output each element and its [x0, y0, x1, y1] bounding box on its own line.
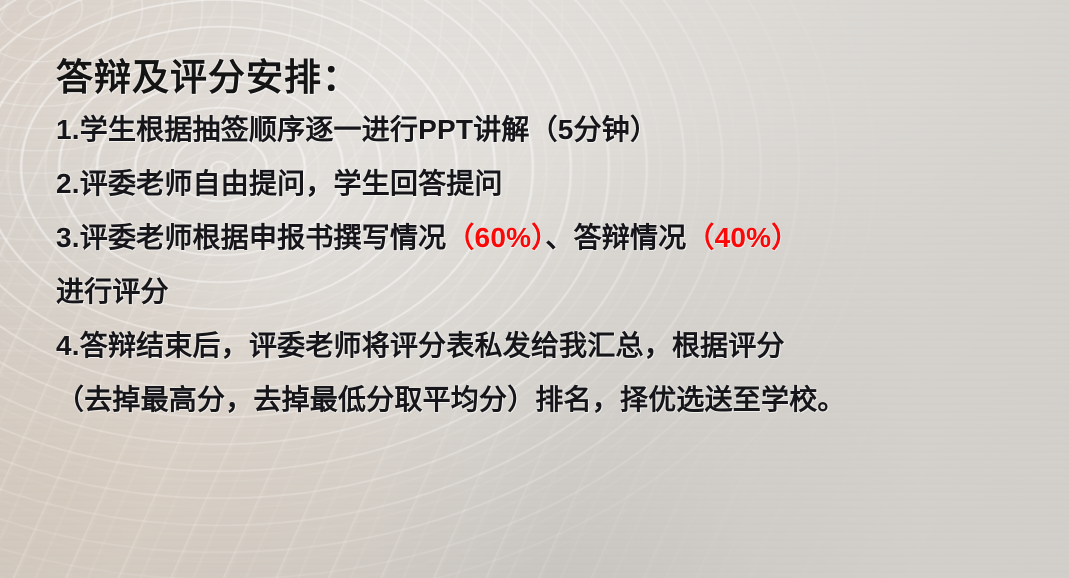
agenda-item-3-continuation: 进行评分	[56, 278, 1056, 306]
agenda-item-3-weight-defense: （40%）	[686, 222, 799, 253]
agenda-item-2: 2.评委老师自由提问，学生回答提问	[56, 170, 1056, 198]
agenda-item-3-prefix: 3.评委老师根据申报书撰写情况	[56, 222, 446, 253]
agenda-item-4: 4.答辩结束后，评委老师将评分表私发给我汇总，根据评分	[56, 332, 1056, 360]
presentation-slide: 答辩及评分安排： 1.学生根据抽签顺序逐一进行PPT讲解（5分钟） 2.评委老师…	[0, 0, 1069, 578]
agenda-item-3-weight-report: （60%）	[446, 222, 545, 253]
agenda-item-1: 1.学生根据抽签顺序逐一进行PPT讲解（5分钟）	[56, 116, 1056, 144]
slide-title: 答辩及评分安排：	[56, 56, 1056, 100]
agenda-item-4-continuation: （去掉最高分，去掉最低分取平均分）排名，择优选送至学校。	[56, 386, 1056, 414]
slide-content: 答辩及评分安排： 1.学生根据抽签顺序逐一进行PPT讲解（5分钟） 2.评委老师…	[56, 56, 1056, 414]
agenda-item-3: 3.评委老师根据申报书撰写情况（60%）、答辩情况（40%）	[56, 224, 1056, 252]
agenda-item-3-middle: 、答辩情况	[545, 222, 686, 253]
